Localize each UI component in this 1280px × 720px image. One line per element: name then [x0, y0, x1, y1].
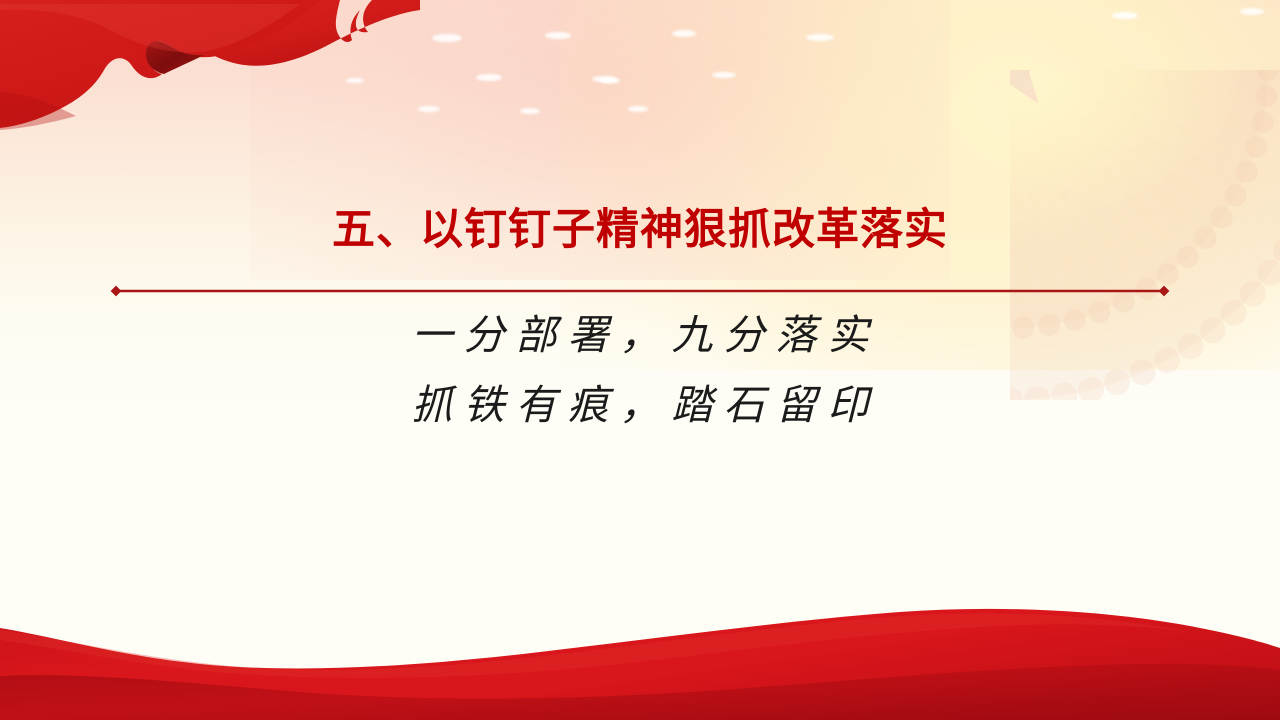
body-text-block: 一分部署，九分落实 抓铁有痕，踏石留印	[0, 300, 1280, 440]
body-line: 抓铁有痕，踏石留印	[0, 370, 1280, 440]
divider-left-diamond-icon	[111, 286, 122, 297]
slide-content: 五、以钉钉子精神狠抓改革落实 一分部署，九分落实 抓铁有痕，踏石留印	[0, 0, 1280, 720]
divider-right-diamond-icon	[1159, 286, 1170, 297]
body-line: 一分部署，九分落实	[0, 300, 1280, 370]
title-divider	[110, 285, 1170, 297]
slide-canvas: 五、以钉钉子精神狠抓改革落实 一分部署，九分落实 抓铁有痕，踏石留印	[0, 0, 1280, 720]
page-title: 五、以钉钉子精神狠抓改革落实	[0, 206, 1280, 255]
